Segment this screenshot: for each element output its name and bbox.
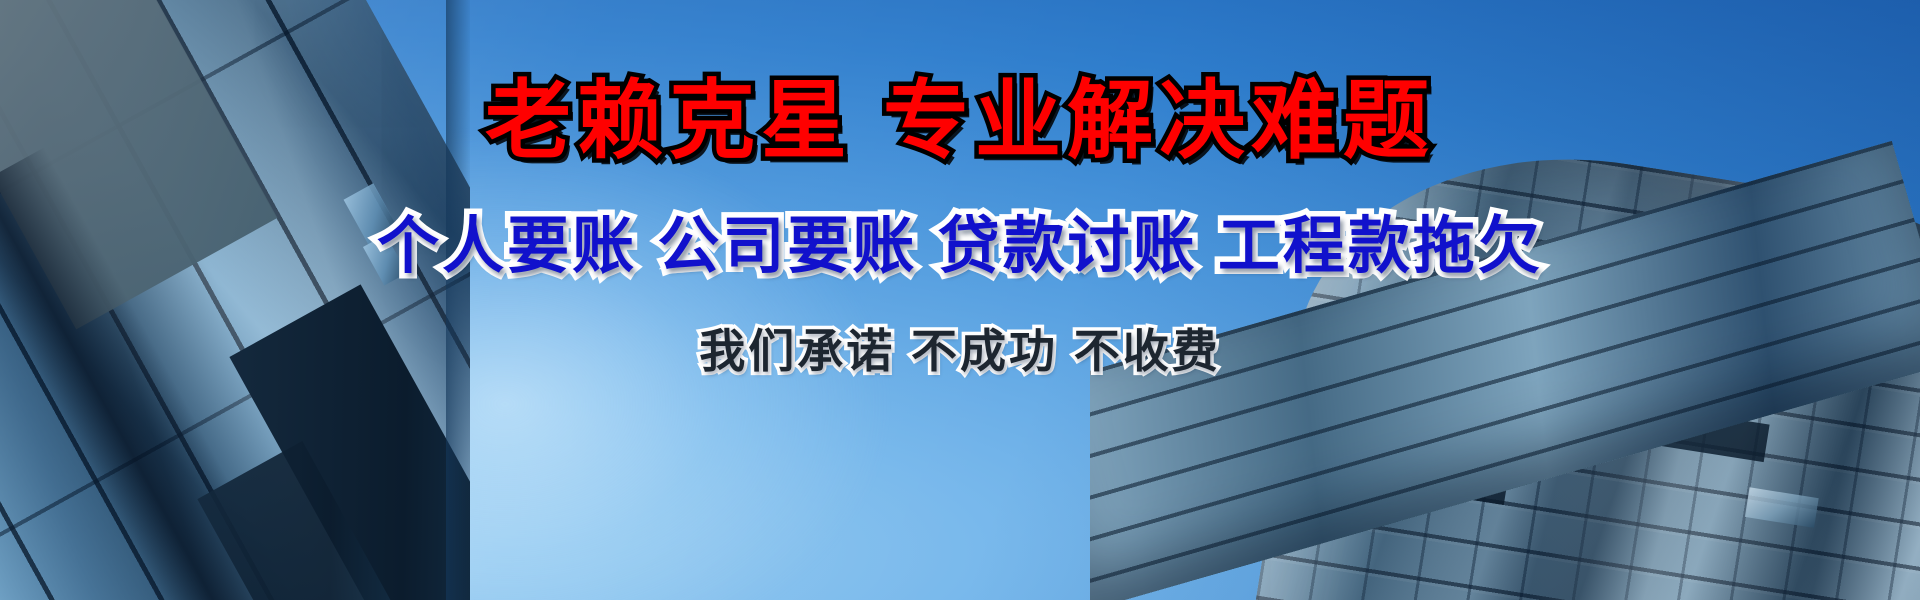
banner-text-block: 老赖克星 专业解决难题 个人要账 公司要账 贷款讨账 工程款拖欠 我们承诺 不成… xyxy=(0,0,1920,600)
banner-service-list: 个人要账 公司要账 贷款讨账 工程款拖欠 xyxy=(377,216,1543,278)
promo-banner: 老赖克星 专业解决难题 个人要账 公司要账 贷款讨账 工程款拖欠 我们承诺 不成… xyxy=(0,0,1920,600)
banner-promise-text: 我们承诺 不成功 不收费 xyxy=(699,328,1221,374)
banner-headline: 老赖克星 专业解决难题 xyxy=(485,78,1435,164)
